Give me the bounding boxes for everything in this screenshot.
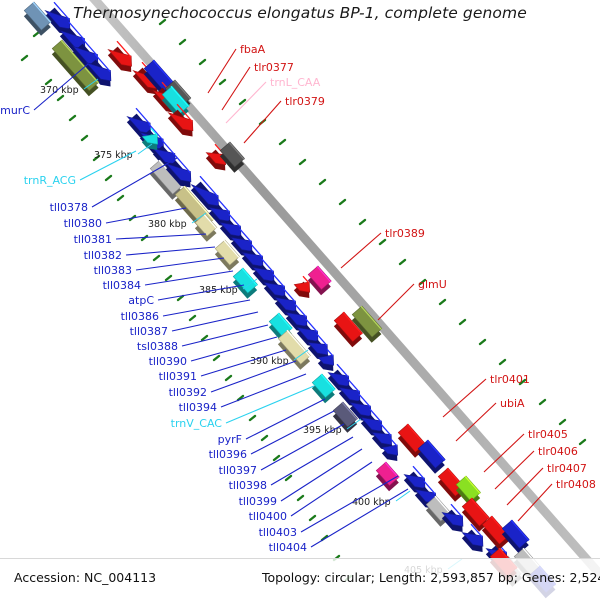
gene-label[interactable]: ubiA xyxy=(500,397,525,410)
scale-tick-label: 370 kbp xyxy=(40,85,79,96)
gene-labels-right[interactable]: fbaAtlr0377trnL_CAAtlr0379tlr0389glmUtlr… xyxy=(240,43,596,491)
tick-mark xyxy=(380,240,385,244)
tick-mark xyxy=(340,200,345,204)
label-leader-line xyxy=(281,449,362,501)
gene-label[interactable]: tll0387 xyxy=(130,325,168,338)
tick-mark xyxy=(46,80,51,84)
tick-mark xyxy=(250,416,255,420)
gene-label[interactable]: tll0397 xyxy=(219,464,257,477)
gene-label[interactable]: murC xyxy=(0,104,30,117)
label-leader-line xyxy=(341,233,381,268)
gene-label[interactable]: tlr0406 xyxy=(538,445,578,458)
tick-mark xyxy=(202,336,207,340)
tick-mark xyxy=(500,360,505,364)
tick-mark xyxy=(300,160,305,164)
label-leader-line xyxy=(136,258,224,270)
gene-label[interactable]: glmU xyxy=(418,278,447,291)
gene-label[interactable]: tll0390 xyxy=(149,355,187,368)
tick-mark xyxy=(440,300,445,304)
gene-label[interactable]: tlr0405 xyxy=(528,428,568,441)
label-leader-line xyxy=(126,247,215,255)
gene-label[interactable]: tll0404 xyxy=(269,541,307,554)
tick-mark xyxy=(82,136,87,140)
tick-mark xyxy=(214,356,219,360)
topology-text: Topology: circular; Length: 2,593,857 bp… xyxy=(262,570,600,585)
tick-mark xyxy=(58,96,63,100)
tick-mark xyxy=(118,196,123,200)
genome-map-canvas[interactable]: 370 kbp375 kbp380 kbp385 kbp390 kbp395 k… xyxy=(0,0,600,600)
tick-mark xyxy=(22,56,27,60)
gene-label[interactable]: tll0384 xyxy=(103,279,141,292)
tick-mark xyxy=(240,100,245,104)
gene-label[interactable]: tll0399 xyxy=(239,495,277,508)
tick-mark xyxy=(560,420,565,424)
tick-mark xyxy=(580,440,585,444)
gene-label[interactable]: atpC xyxy=(128,294,154,307)
label-leader-line xyxy=(378,284,414,320)
tick-mark xyxy=(360,220,365,224)
tick-mark xyxy=(200,60,205,64)
gene-label[interactable]: tll0392 xyxy=(169,386,207,399)
gene-label[interactable]: tll0380 xyxy=(64,217,102,230)
gene-label[interactable]: tsl0388 xyxy=(137,340,178,353)
gene-label[interactable]: tlr0379 xyxy=(285,95,325,108)
tick-mark xyxy=(274,456,279,460)
tick-mark xyxy=(320,180,325,184)
tick-mark xyxy=(70,116,75,120)
gene-label[interactable]: tll0378 xyxy=(50,201,88,214)
gene-label[interactable]: tlr0401 xyxy=(490,373,530,386)
gene-label[interactable]: trnR_ACG xyxy=(24,174,76,187)
label-leader-line xyxy=(116,234,206,239)
gene-label[interactable]: tll0403 xyxy=(259,526,297,539)
tick-mark xyxy=(262,436,267,440)
label-leader-line xyxy=(163,300,250,316)
gene-label[interactable]: trnL_CAA xyxy=(270,76,321,89)
label-leader-line xyxy=(226,386,314,423)
tick-mark xyxy=(480,340,485,344)
tick-mark xyxy=(190,316,195,320)
tick-mark xyxy=(310,516,315,520)
label-leader-line xyxy=(222,67,250,110)
tick-mark xyxy=(166,276,171,280)
tick-mark xyxy=(34,32,39,36)
tick-mark xyxy=(540,400,545,404)
gene-label[interactable]: tll0396 xyxy=(209,448,247,461)
gene-label[interactable]: tll0391 xyxy=(159,370,197,383)
gene-label[interactable]: fbaA xyxy=(240,43,266,56)
scale-tick-label: 380 kbp xyxy=(148,219,187,230)
gene-label[interactable]: tll0383 xyxy=(94,264,132,277)
tick-mark xyxy=(286,476,291,480)
tick-mark xyxy=(160,20,165,24)
gene-label[interactable]: tll0400 xyxy=(249,510,287,523)
gene-label[interactable]: tlr0389 xyxy=(385,227,425,240)
tick-mark xyxy=(400,260,405,264)
gene-label[interactable]: tll0381 xyxy=(74,233,112,246)
label-leader-line xyxy=(244,101,281,143)
label-leader-line xyxy=(208,49,236,93)
tick-mark xyxy=(106,176,111,180)
gene-label[interactable]: pyrF xyxy=(218,433,242,446)
accession-text: Accession: NC_004113 xyxy=(14,570,156,585)
leader-lines-right xyxy=(208,49,552,521)
label-leader-line xyxy=(221,374,306,407)
tick-mark xyxy=(460,320,465,324)
tick-mark xyxy=(280,140,285,144)
tick-mark xyxy=(298,496,303,500)
gene-label[interactable]: tlr0408 xyxy=(556,478,596,491)
scale-tick-label: 395 kbp xyxy=(303,425,342,436)
label-leader-line xyxy=(145,271,233,285)
gene-feature[interactable] xyxy=(21,2,54,36)
tick-mark xyxy=(180,40,185,44)
gene-label[interactable]: trnV_CAC xyxy=(171,417,223,430)
label-leader-line xyxy=(226,82,266,123)
tick-mark xyxy=(226,376,231,380)
tick-mark xyxy=(220,80,225,84)
gene-label[interactable]: tll0386 xyxy=(121,310,159,323)
gene-label[interactable]: tll0394 xyxy=(179,401,217,414)
tick-mark xyxy=(154,256,159,260)
gene-label[interactable]: tlr0377 xyxy=(254,61,294,74)
genome-map-viewer: Thermosynechococcus elongatus BP-1, comp… xyxy=(0,0,600,600)
footer-divider xyxy=(0,558,600,559)
label-leader-line xyxy=(172,312,258,331)
gene-label[interactable]: tlr0407 xyxy=(547,462,587,475)
status-bar: Accession: NC_004113 Topology: circular;… xyxy=(0,558,600,600)
gene-label[interactable]: tll0398 xyxy=(229,479,267,492)
gene-label[interactable]: tll0382 xyxy=(84,249,122,262)
label-leader-line xyxy=(271,437,353,485)
